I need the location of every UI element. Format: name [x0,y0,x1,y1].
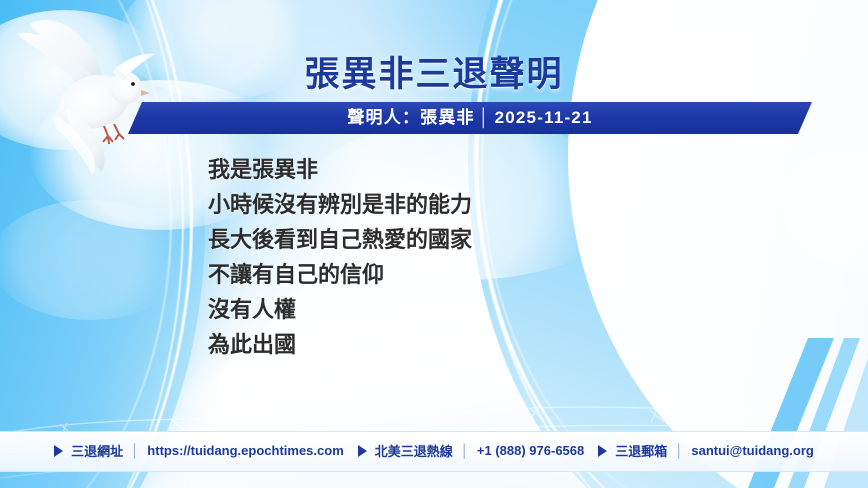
footer-item-hotline[interactable]: 北美三退熱線 │ +1 (888) 976-6568 [358,441,584,460]
triangle-bullet-icon [54,445,63,457]
page-title: 張異非三退聲明 [0,46,868,97]
footer-label: 三退網址 [71,441,123,460]
footer-separator: │ [459,443,471,458]
banner-text: 聲明人：張異非│2025-11-21 [128,102,812,134]
footer-label: 北美三退熱線 [375,441,453,460]
footer-separator: │ [673,443,685,458]
statement-line: 不讓有自己的信仰 [208,257,472,292]
statement-body: 我是張異非 小時候沒有辨別是非的能力 長大後看到自己熱愛的國家 不讓有自己的信仰… [208,152,472,362]
footer-separator: │ [129,443,141,458]
statement-line: 長大後看到自己熱愛的國家 [208,222,472,257]
footer-website-url[interactable]: https://tuidang.epochtimes.com [147,443,343,458]
footer-contact-bar: 三退網址 │ https://tuidang.epochtimes.com 北美… [0,431,868,470]
footer-item-email[interactable]: 三退郵箱 │ santui@tuidang.org [598,441,814,460]
statement-line: 沒有人權 [208,292,472,327]
triangle-bullet-icon [598,445,607,457]
statement-line: 小時候沒有辨別是非的能力 [208,187,472,222]
banner-date: 2025-11-21 [495,108,593,127]
footer-hotline-number[interactable]: +1 (888) 976-6568 [477,443,584,458]
slide-canvas: 張異非三退聲明 聲明人：張異非│2025-11-21 我是張異非 小時候沒有辨別… [0,0,868,488]
banner-speaker: 聲明人：張異非 [347,108,474,127]
footer-item-website[interactable]: 三退網址 │ https://tuidang.epochtimes.com [54,441,344,460]
triangle-bullet-icon [358,445,367,457]
banner-separator: │ [475,102,495,134]
footer-label: 三退郵箱 [615,441,667,460]
footer-email-address[interactable]: santui@tuidang.org [691,443,813,458]
statement-line: 為此出國 [208,327,472,362]
statement-line: 我是張異非 [208,152,472,187]
